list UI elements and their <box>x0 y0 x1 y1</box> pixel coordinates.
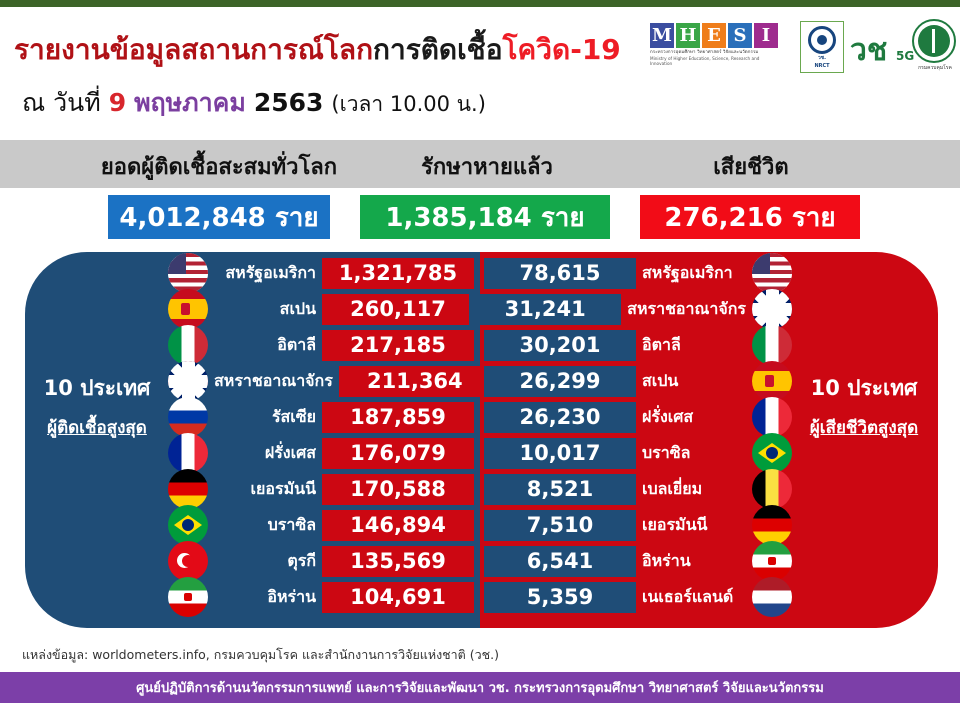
stats-label-bar: ยอดผู้ติดเชื้อสะสมทั่วโลก รักษาหายแล้ว เ… <box>0 140 960 188</box>
country-name: เบลเยี่ยม <box>636 477 752 502</box>
mhesi-letter-m: M <box>650 23 674 48</box>
top-green-strip <box>0 0 960 7</box>
left-panel-heading: 10 ประเทศ <box>22 372 172 405</box>
mhesi-logo: M H E S I กระทรวงการอุดมศึกษา วิทยาศาสตร… <box>650 23 780 66</box>
table-row: ตุรกี 135,569 <box>168 544 474 578</box>
country-value: 211,364 <box>339 366 491 397</box>
table-row: สหรัฐอเมริกา 78,615 <box>484 256 792 290</box>
country-value: 6,541 <box>484 546 636 577</box>
ddc-caption: กรมควบคุมโรค <box>912 64 958 72</box>
country-name: สหราชอาณาจักร <box>621 297 752 322</box>
fr-flag-icon <box>752 397 792 437</box>
country-value: 78,615 <box>484 258 636 289</box>
country-name: สหรัฐอเมริกา <box>636 261 752 286</box>
table-row: อิตาลี 217,185 <box>168 328 474 362</box>
country-name: เยอรมันนี <box>208 477 322 502</box>
country-name: สเปน <box>636 369 752 394</box>
right-panel-label: 10 ประเทศ ผู้เสียชีวิตสูงสุด <box>784 372 944 441</box>
nrct-label-th: วช. <box>801 56 843 62</box>
fr-flag-icon <box>168 433 208 473</box>
table-row: สหรัฐอเมริกา 1,321,785 <box>168 256 474 290</box>
vch-logo: วช <box>850 27 887 74</box>
table-row: สหราชอาณาจักร 211,364 <box>168 364 474 398</box>
footer-bar-text: ศูนย์ปฏิบัติการด้านนวัตกรรมการแพทย์ และก… <box>136 677 824 698</box>
br-flag-icon <box>168 505 208 545</box>
country-name: รัสเซีย <box>208 405 322 430</box>
deaths-table: สหรัฐอเมริกา 78,615 สหราชอาณาจักร 31,241… <box>484 256 792 616</box>
ir-flag-icon <box>752 541 792 581</box>
table-row: เนเธอร์แลนด์ 5,359 <box>484 580 792 614</box>
report-date: ณ วันที่ 9 พฤษภาคม 2563 (เวลา 10.00 น.) <box>22 83 486 123</box>
country-value: 1,321,785 <box>322 258 474 289</box>
it-flag-icon <box>752 325 792 365</box>
stat-label-recovered: รักษาหายแล้ว <box>378 149 596 184</box>
country-value: 31,241 <box>469 294 621 325</box>
date-year: 2563 <box>254 88 324 117</box>
country-name: เนเธอร์แลนด์ <box>636 585 752 610</box>
mhesi-letter-s: S <box>728 23 752 48</box>
ddc-logo <box>912 19 956 63</box>
cases-table: สหรัฐอเมริกา 1,321,785 สเปน 260,117 อิตา… <box>168 256 474 616</box>
country-name: ฝรั่งเศส <box>208 441 322 466</box>
country-value: 10,017 <box>484 438 636 469</box>
mhesi-letters: M H E S I <box>650 23 780 48</box>
stat-label-cases: ยอดผู้ติดเชื้อสะสมทั่วโลก <box>84 149 354 184</box>
table-row: อิหร่าน 6,541 <box>484 544 792 578</box>
country-value: 170,588 <box>322 474 474 505</box>
logo-group: M H E S I กระทรวงการอุดมศึกษา วิทยาศาสตร… <box>650 17 955 77</box>
ru-flag-icon <box>168 397 208 437</box>
table-row: สเปน 260,117 <box>168 292 474 326</box>
right-panel-subheading: ผู้เสียชีวิตสูงสุด <box>784 414 944 441</box>
nrct-wheel-icon <box>808 26 836 54</box>
it-flag-icon <box>168 325 208 365</box>
country-value: 30,201 <box>484 330 636 361</box>
br-flag-icon <box>752 433 792 473</box>
country-value: 135,569 <box>322 546 474 577</box>
right-panel-heading: 10 ประเทศ <box>784 372 944 405</box>
ddc-emblem-icon <box>918 25 950 57</box>
source-note: แหล่งข้อมูล: worldometers.info, กรมควบคุ… <box>22 645 499 665</box>
stat-value-cases: 4,012,848 ราย <box>108 195 330 239</box>
country-value: 7,510 <box>484 510 636 541</box>
mhesi-letter-i: I <box>754 23 778 48</box>
es-flag-icon <box>168 289 208 329</box>
left-panel-label: 10 ประเทศ ผู้ติดเชื้อสูงสุด <box>22 372 172 441</box>
table-row: อิตาลี 30,201 <box>484 328 792 362</box>
us-flag-icon <box>168 253 208 293</box>
be-flag-icon <box>752 469 792 509</box>
country-name: ฝรั่งเศส <box>636 405 752 430</box>
de-flag-icon <box>752 505 792 545</box>
tr-flag-icon <box>168 541 208 581</box>
table-row: รัสเซีย 187,859 <box>168 400 474 434</box>
es-flag-icon <box>752 361 792 401</box>
country-name: อิตาลี <box>636 333 752 358</box>
title-part-3: โควิด-19 <box>503 33 621 66</box>
country-name: ตุรกี <box>208 549 322 574</box>
country-name: สเปน <box>208 297 322 322</box>
country-value: 176,079 <box>322 438 474 469</box>
mhesi-letter-e: E <box>702 23 726 48</box>
stat-value-recovered: 1,385,184 ราย <box>360 195 610 239</box>
mhesi-letter-h: H <box>676 23 700 48</box>
vch-5g-badge: 5G <box>896 49 914 63</box>
table-row: บราซิล 10,017 <box>484 436 792 470</box>
table-row: สเปน 26,299 <box>484 364 792 398</box>
date-day: 9 <box>109 88 126 117</box>
footer-bar: ศูนย์ปฏิบัติการด้านนวัตกรรมการแพทย์ และก… <box>0 672 960 703</box>
table-row: ฝรั่งเศส 26,230 <box>484 400 792 434</box>
country-name: สหราชอาณาจักร <box>208 369 339 394</box>
country-value: 217,185 <box>322 330 474 361</box>
nrct-label-en: NRCT <box>801 64 843 70</box>
left-panel-subheading: ผู้ติดเชื้อสูงสุด <box>22 414 172 441</box>
date-month: พฤษภาคม <box>134 88 246 117</box>
country-name: อิตาลี <box>208 333 322 358</box>
country-value: 5,359 <box>484 582 636 613</box>
gb-flag-icon <box>752 289 792 329</box>
title-part-2: การติดเชื้อ <box>373 33 502 66</box>
page-title: รายงานข้อมูลสถานการณ์โลกการติดเชื้อโควิด… <box>14 28 621 72</box>
table-row: เยอรมันนี 7,510 <box>484 508 792 542</box>
us-flag-icon <box>752 253 792 293</box>
table-row: อิหร่าน 104,691 <box>168 580 474 614</box>
title-part-1: รายงานข้อมูลสถานการณ์โลก <box>14 33 373 66</box>
stat-value-deaths: 276,216 ราย <box>640 195 860 239</box>
table-row: เบลเยี่ยม 8,521 <box>484 472 792 506</box>
table-row: สหราชอาณาจักร 31,241 <box>484 292 792 326</box>
country-name: อิหร่าน <box>208 585 322 610</box>
gb-flag-icon <box>168 361 208 401</box>
table-row: เยอรมันนี 170,588 <box>168 472 474 506</box>
nrct-logo: วช. NRCT <box>800 21 844 73</box>
country-value: 260,117 <box>322 294 474 325</box>
stat-label-deaths: เสียชีวิต <box>645 149 857 184</box>
header: รายงานข้อมูลสถานการณ์โลกการติดเชื้อโควิด… <box>0 7 960 133</box>
country-name: บราซิล <box>208 513 322 538</box>
ir-flag-icon <box>168 577 208 617</box>
nl-flag-icon <box>752 577 792 617</box>
country-name: บราซิล <box>636 441 752 466</box>
country-value: 8,521 <box>484 474 636 505</box>
country-name: อิหร่าน <box>636 549 752 574</box>
country-name: เยอรมันนี <box>636 513 752 538</box>
country-value: 104,691 <box>322 582 474 613</box>
table-row: ฝรั่งเศส 176,079 <box>168 436 474 470</box>
de-flag-icon <box>168 469 208 509</box>
country-value: 26,299 <box>484 366 636 397</box>
mhesi-subtitle-en: Ministry of Higher Education, Science, R… <box>650 56 780 67</box>
table-row: บราซิล 146,894 <box>168 508 474 542</box>
infographic-page: รายงานข้อมูลสถานการณ์โลกการติดเชื้อโควิด… <box>0 0 960 703</box>
country-value: 146,894 <box>322 510 474 541</box>
date-prefix: ณ วันที่ <box>22 88 101 117</box>
country-name: สหรัฐอเมริกา <box>208 261 322 286</box>
country-value: 26,230 <box>484 402 636 433</box>
country-value: 187,859 <box>322 402 474 433</box>
date-time: (เวลา 10.00 น.) <box>331 92 486 116</box>
